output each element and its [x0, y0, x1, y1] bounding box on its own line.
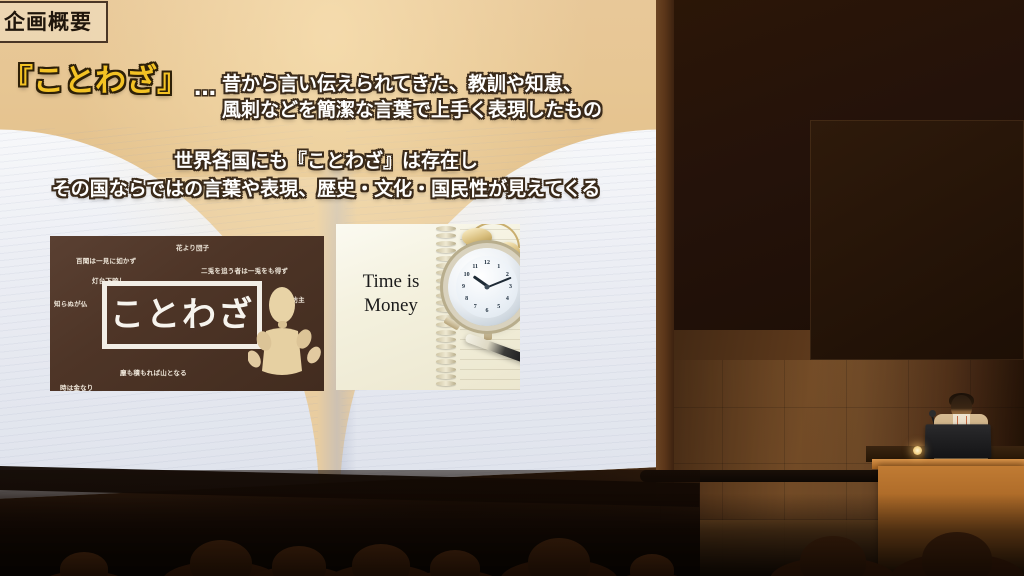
- paragraph-two: 世界各国にも『ことわざ』は存在し その国ならではの言葉や表現、歴史・文化・国民性…: [0, 148, 656, 203]
- clock-numeral: 7: [474, 304, 477, 310]
- screen-right-frame: [656, 0, 674, 500]
- presentation-photo: 企画概要 『ことわざ』 … 昔から言い伝えられてきた、教訓や知恵、 風刺などを簡…: [0, 0, 1024, 576]
- clock-numeral: 9: [462, 284, 465, 290]
- slide-image-kotowaza: 花より団子 百聞は一見に如かず 二兎を追う者は一兎をも得ず 灯台下暗し 三日坊主…: [50, 236, 324, 391]
- caption-line-2: Money: [346, 294, 436, 318]
- clock-foot-right: [484, 326, 492, 340]
- clock-face: 121234567891011: [456, 256, 518, 318]
- paragraph-two-line-1: 世界各国にも『ことわざ』は存在し: [0, 148, 656, 176]
- clock-numeral: 6: [486, 308, 489, 314]
- definition-body: 昔から言い伝えられてきた、教訓や知恵、 風刺などを簡潔な言葉で上手く表現したもの: [222, 66, 602, 123]
- proverb-label: 二兎を追う者は一兎をも得ず: [201, 265, 288, 275]
- wooden-mannequin-icon: [248, 279, 322, 391]
- kotowaza-stamp: ことわざ: [102, 281, 262, 349]
- kotowaza-stamp-text: ことわざ: [110, 298, 254, 332]
- clock-numeral: 12: [484, 260, 490, 266]
- definition-line-1: 昔から言い伝えられてきた、教訓や知恵、: [222, 72, 602, 98]
- clock-numeral: 3: [509, 284, 512, 290]
- podium-lamp-icon: [913, 446, 922, 455]
- clock-numeral: 2: [506, 272, 509, 278]
- proverb-label: 知らぬが仏: [54, 298, 88, 308]
- laptop-on-podium: [925, 424, 992, 458]
- clock-numeral: 10: [464, 272, 470, 278]
- clock-minute-hand: [488, 277, 512, 288]
- proverb-label: 百聞は一見に如かず: [76, 255, 136, 265]
- clock-numeral: 1: [497, 264, 500, 270]
- alarm-clock-icon: 121234567891011: [448, 248, 520, 326]
- clock-numeral: 11: [472, 264, 478, 270]
- clock-numeral: 4: [506, 296, 509, 302]
- proverb-label: 時は金なり: [60, 382, 94, 391]
- alarm-bell-left: [462, 228, 492, 246]
- definition-ellipsis: …: [194, 66, 216, 105]
- time-is-money-caption: Time is Money: [346, 270, 436, 318]
- slide-title-box: 企画概要: [0, 1, 108, 43]
- definition-line-2: 風刺などを簡潔な言葉で上手く表現したもの: [222, 98, 602, 124]
- proverb-label: 花より団子: [176, 242, 209, 252]
- caption-line-1: Time is: [346, 270, 436, 294]
- definition-term: 『ことわざ』: [2, 66, 188, 97]
- clock-numeral: 8: [465, 296, 468, 302]
- clock-center-pin: [485, 285, 490, 290]
- wall-panel-inset: [810, 120, 1024, 360]
- proverb-label: 塵も積もれば山となる: [120, 367, 187, 377]
- slide-image-time-is-money: Time is Money 121234567891011: [336, 224, 520, 390]
- slide-title-label: 企画概要: [4, 10, 92, 34]
- clock-numeral: 5: [497, 304, 500, 310]
- projection-screen: 企画概要 『ことわざ』 … 昔から言い伝えられてきた、教訓や知恵、 風刺などを簡…: [0, 0, 664, 499]
- paragraph-two-line-2: その国ならではの言葉や表現、歴史・文化・国民性が見えてくる: [0, 176, 656, 204]
- definition-block: 『ことわざ』 … 昔から言い伝えられてきた、教訓や知恵、 風刺などを簡潔な言葉で…: [2, 66, 602, 123]
